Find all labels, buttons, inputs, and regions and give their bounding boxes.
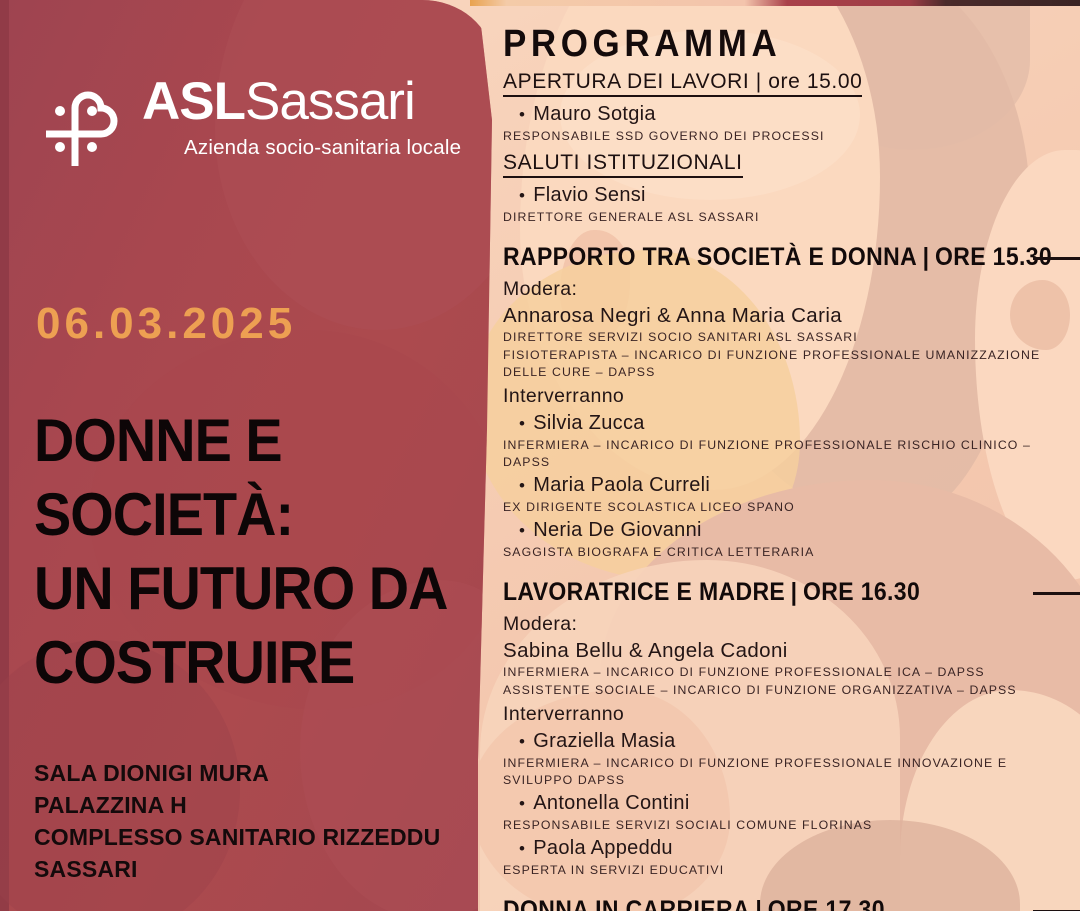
session-1-pipe: | [923, 243, 930, 271]
event-title-line-1: DONNE E [34, 404, 443, 478]
session-1-title: RAPPORTO TRA SOCIETÀ E DONNA [503, 243, 917, 271]
session-1-speaker-2-role: EX DIRIGENTE SCOLASTICA LICEO SPANO [503, 499, 1063, 516]
session-3-pipe: | [755, 896, 762, 911]
venue-line-2: PALAZZINA H [34, 789, 484, 821]
event-date: 06.03.2025 [36, 299, 296, 349]
event-title-line-3: UN FUTURO DA [34, 552, 443, 626]
session-1-speaker-3-name: Neria De Giovanni [519, 517, 1063, 544]
session-3-title: DONNA IN CARRIERA [503, 896, 750, 911]
session-2-heading: LAVORATRICE E MADRE|ORE 16.30 [503, 577, 1018, 607]
programme-opening-block: APERTURA DEI LAVORI | ore 15.00 Mauro So… [503, 70, 1063, 145]
venue-line-1: SALA DIONIGI MURA [34, 757, 484, 789]
session-1-moderator-role-2: FISIOTERAPISTA – INCARICO DI FUNZIONE PR… [503, 347, 1063, 381]
saluti-person-name: Flavio Sensi [519, 182, 1063, 209]
session-1-speaker-3-role: SAGGISTA BIOGRAFA E CRITICA LETTERARIA [503, 544, 1063, 561]
session-2-moderators: Sabina Bellu & Angela Cadoni [503, 637, 1063, 664]
event-poster: ASLSassari Azienda socio-sanitaria local… [0, 0, 1080, 911]
session-1-speaker-1-name: Silvia Zucca [519, 410, 1063, 437]
session-block-2: LAVORATRICE E MADRE|ORE 16.30 Modera: Sa… [503, 577, 1063, 879]
session-1-speakers-label: Interverranno [503, 383, 1063, 410]
asl-logo-wordmark: ASLSassari [142, 74, 461, 130]
session-2-speaker-1-name: Graziella Masia [519, 728, 1063, 755]
session-3-time: ORE 17.30 [768, 896, 885, 911]
session-2-time: ORE 16.30 [803, 578, 920, 606]
top-color-strip [470, 0, 1080, 6]
asl-logo-brand-bold: ASL [142, 72, 245, 131]
session-2-speaker-2-role: RESPONSABILE SERVIZI SOCIALI COMUNE FLOR… [503, 817, 1063, 834]
event-title-line-2: SOCIETÀ: [34, 478, 443, 552]
session-2-moderator-role-1: INFERMIERA – INCARICO DI FUNZIONE PROFES… [503, 664, 1063, 681]
saluti-person-role: DIRETTORE GENERALE ASL SASSARI [503, 209, 1063, 226]
session-2-speaker-3-name: Paola Appeddu [519, 835, 1063, 862]
asl-logo-tagline: Azienda socio-sanitaria locale [184, 136, 461, 160]
session-block-3: DONNA IN CARRIERA|ORE 17.30 Modera: Anna… [503, 895, 1063, 911]
session-2-modera-label: Modera: [503, 611, 1063, 637]
session-1-heading: RAPPORTO TRA SOCIETÀ E DONNA|ORE 15.30 [503, 242, 1018, 272]
session-2-speaker-1-role: INFERMIERA – INCARICO DI FUNZIONE PROFES… [503, 755, 1063, 789]
asl-logo: ASLSassari Azienda socio-sanitaria local… [44, 74, 461, 170]
session-2-speaker-2-name: Antonella Contini [519, 790, 1063, 817]
session-1-moderators: Annarosa Negri & Anna Maria Caria [503, 302, 1063, 329]
programme-column: PROGRAMMA APERTURA DEI LAVORI | ore 15.0… [503, 22, 1063, 911]
opening-label-apertura: APERTURA DEI LAVORI | ore 15.00 [503, 70, 862, 97]
session-1-speaker-1-role: INFERMIERA – INCARICO DI FUNZIONE PROFES… [503, 437, 1063, 471]
session-1-modera-label: Modera: [503, 276, 1063, 302]
session-2-pipe: | [791, 578, 798, 606]
venue-line-3: COMPLESSO SANITARIO RIZZEDDU [34, 821, 484, 853]
session-2-speakers-label: Interverranno [503, 701, 1063, 728]
session-1-moderator-role-1: DIRETTORE SERVIZI SOCIO SANITARI ASL SAS… [503, 329, 1063, 346]
session-2-rule [1033, 592, 1080, 595]
asl-cross-heart-logo-icon [44, 78, 130, 170]
session-block-1: RAPPORTO TRA SOCIETÀ E DONNA|ORE 15.30 M… [503, 242, 1063, 561]
session-2-speaker-3-role: ESPERTA IN SERVIZI EDUCATIVI [503, 862, 1063, 879]
session-1-rule [1033, 257, 1080, 260]
opening-person-role: RESPONSABILE SSD GOVERNO DEI PROCESSI [503, 128, 1063, 145]
programme-heading: PROGRAMMA [503, 22, 1018, 66]
opening-label-saluti: SALUTI ISTITUZIONALI [503, 151, 743, 178]
venue-line-4: SASSARI [34, 853, 484, 885]
session-3-heading: DONNA IN CARRIERA|ORE 17.30 [503, 895, 1018, 911]
asl-logo-brand-light: Sassari [245, 72, 415, 131]
session-2-title: LAVORATRICE E MADRE [503, 578, 785, 606]
event-title-line-4: COSTRUIRE [34, 626, 443, 700]
session-2-moderator-role-2: ASSISTENTE SOCIALE – INCARICO DI FUNZION… [503, 682, 1063, 699]
event-venue: SALA DIONIGI MURA PALAZZINA H COMPLESSO … [34, 757, 484, 885]
session-1-speaker-2-name: Maria Paola Curreli [519, 472, 1063, 499]
programme-saluti-block: SALUTI ISTITUZIONALI Flavio Sensi DIRETT… [503, 151, 1063, 226]
opening-person-name: Mauro Sotgia [519, 101, 1063, 128]
event-title: DONNE E SOCIETÀ: UN FUTURO DA COSTRUIRE [34, 404, 443, 700]
